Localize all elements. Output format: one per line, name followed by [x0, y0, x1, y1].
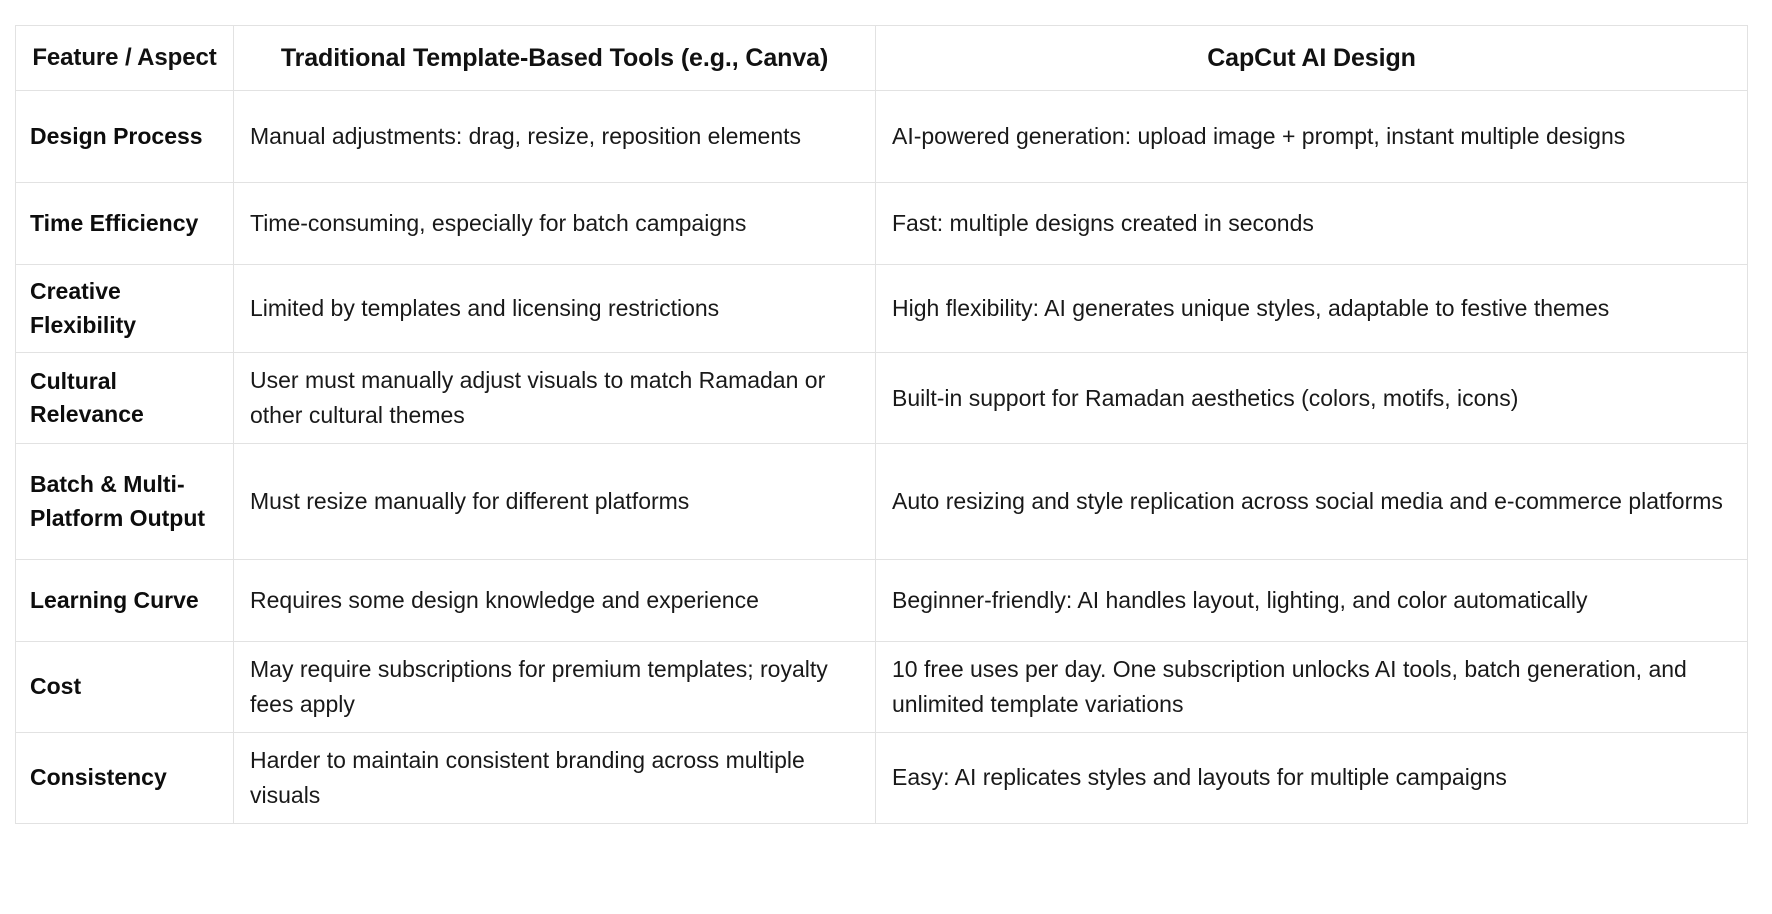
feature-label-batch-multi-platform-output: Batch & Multi-Platform Output [16, 444, 234, 560]
cell-traditional-cost: May require subscriptions for premium te… [234, 642, 876, 733]
feature-label-design-process: Design Process [16, 91, 234, 183]
comparison-table: Feature / Aspect Traditional Template-Ba… [15, 25, 1748, 824]
feature-label-creative-flexibility: Creative Flexibility [16, 265, 234, 353]
table-row: Cultural Relevance User must manually ad… [16, 353, 1748, 444]
table-header: Feature / Aspect Traditional Template-Ba… [16, 26, 1748, 91]
feature-label-time-efficiency: Time Efficiency [16, 183, 234, 265]
cell-traditional-design-process: Manual adjustments: drag, resize, reposi… [234, 91, 876, 183]
feature-label-cultural-relevance: Cultural Relevance [16, 353, 234, 444]
column-header-feature: Feature / Aspect [16, 26, 234, 91]
cell-traditional-batch-multi-platform-output: Must resize manually for different platf… [234, 444, 876, 560]
page-container: Feature / Aspect Traditional Template-Ba… [0, 0, 1772, 914]
cell-traditional-time-efficiency: Time-consuming, especially for batch cam… [234, 183, 876, 265]
feature-label-consistency: Consistency [16, 732, 234, 823]
table-row: Consistency Harder to maintain consisten… [16, 732, 1748, 823]
cell-capcut-consistency: Easy: AI replicates styles and layouts f… [876, 732, 1748, 823]
cell-capcut-time-efficiency: Fast: multiple designs created in second… [876, 183, 1748, 265]
table-row: Learning Curve Requires some design know… [16, 560, 1748, 642]
column-header-capcut-ai-design: CapCut AI Design [876, 26, 1748, 91]
table-row: Time Efficiency Time-consuming, especial… [16, 183, 1748, 265]
cell-capcut-batch-multi-platform-output: Auto resizing and style replication acro… [876, 444, 1748, 560]
table-row: Batch & Multi-Platform Output Must resiz… [16, 444, 1748, 560]
cell-capcut-learning-curve: Beginner-friendly: AI handles layout, li… [876, 560, 1748, 642]
feature-label-learning-curve: Learning Curve [16, 560, 234, 642]
table-row: Cost May require subscriptions for premi… [16, 642, 1748, 733]
table-body: Design Process Manual adjustments: drag,… [16, 91, 1748, 824]
cell-traditional-creative-flexibility: Limited by templates and licensing restr… [234, 265, 876, 353]
cell-capcut-design-process: AI-powered generation: upload image + pr… [876, 91, 1748, 183]
cell-traditional-learning-curve: Requires some design knowledge and exper… [234, 560, 876, 642]
table-row: Creative Flexibility Limited by template… [16, 265, 1748, 353]
cell-capcut-cultural-relevance: Built-in support for Ramadan aesthetics … [876, 353, 1748, 444]
header-row: Feature / Aspect Traditional Template-Ba… [16, 26, 1748, 91]
cell-traditional-consistency: Harder to maintain consistent branding a… [234, 732, 876, 823]
feature-label-cost: Cost [16, 642, 234, 733]
table-row: Design Process Manual adjustments: drag,… [16, 91, 1748, 183]
cell-capcut-cost: 10 free uses per day. One subscription u… [876, 642, 1748, 733]
cell-capcut-creative-flexibility: High flexibility: AI generates unique st… [876, 265, 1748, 353]
column-header-traditional-tools: Traditional Template-Based Tools (e.g., … [234, 26, 876, 91]
cell-traditional-cultural-relevance: User must manually adjust visuals to mat… [234, 353, 876, 444]
